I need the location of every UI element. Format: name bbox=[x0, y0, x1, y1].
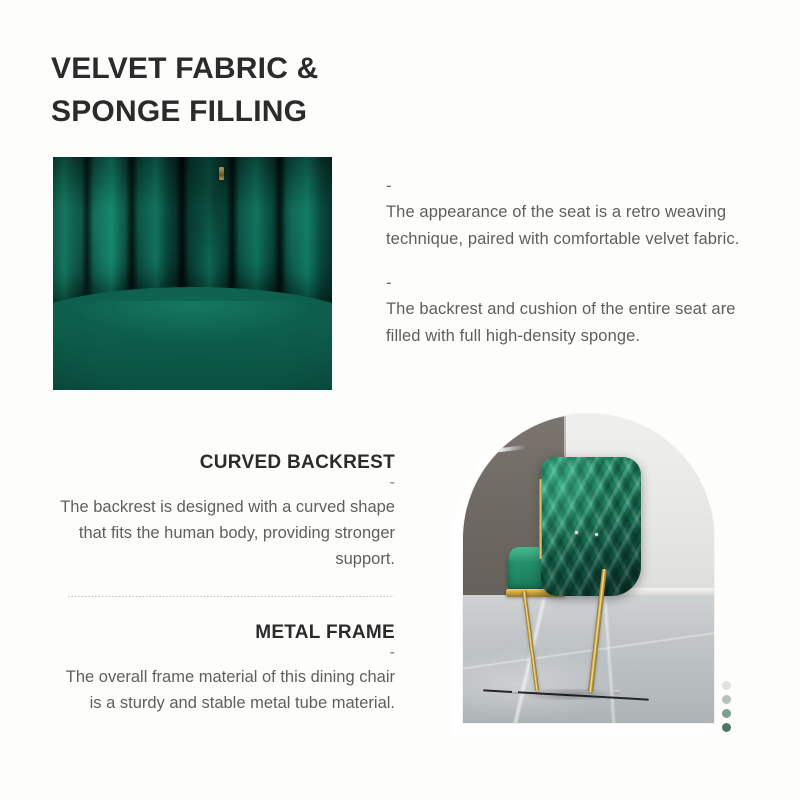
backrest-stud-icon bbox=[575, 531, 578, 534]
bullet-item: - The backrest and cushion of the entire… bbox=[386, 275, 764, 350]
feature-marker: - bbox=[50, 646, 395, 660]
gradient-dot bbox=[722, 709, 731, 718]
feature-marker: - bbox=[50, 476, 395, 490]
chair-floor-shadow bbox=[506, 689, 632, 700]
feature-metal-frame: METAL FRAME - The overall frame material… bbox=[50, 622, 395, 716]
feature-curved-backrest: CURVED BACKREST - The backrest is design… bbox=[50, 452, 395, 572]
feature-title: METAL FRAME bbox=[50, 622, 395, 644]
product-feature-page: VELVET FABRIC & SPONGE FILLING - The app… bbox=[0, 0, 800, 800]
bullet-item: - The appearance of the seat is a retro … bbox=[386, 178, 764, 253]
section-divider bbox=[68, 596, 394, 597]
bullet-marker: - bbox=[386, 178, 764, 193]
feature-text: The overall frame material of this dinin… bbox=[50, 664, 395, 716]
bullet-text: The backrest and cushion of the entire s… bbox=[386, 296, 764, 349]
chair-photo bbox=[463, 414, 714, 723]
floor-tile-lines bbox=[463, 595, 714, 723]
backrest-stud-icon bbox=[595, 533, 598, 536]
chair-woven-backrest bbox=[541, 457, 641, 596]
feature-text: The backrest is designed with a curved s… bbox=[50, 494, 395, 572]
chair-foot-cap bbox=[614, 690, 620, 694]
bullet-text: The appearance of the seat is a retro we… bbox=[386, 199, 764, 252]
feature-bullet-list: - The appearance of the seat is a retro … bbox=[386, 178, 764, 349]
gradient-dot bbox=[722, 695, 731, 704]
color-gradient-dots bbox=[722, 681, 731, 732]
velvet-vignette bbox=[53, 157, 332, 390]
gradient-dot bbox=[722, 723, 731, 732]
page-title: VELVET FABRIC & SPONGE FILLING bbox=[51, 48, 471, 133]
bullet-marker: - bbox=[386, 275, 764, 290]
chair-foot-cap bbox=[512, 690, 518, 694]
feature-title: CURVED BACKREST bbox=[50, 452, 395, 474]
chair-gold-post bbox=[539, 479, 542, 559]
gradient-dot bbox=[722, 681, 731, 690]
velvet-fabric-photo bbox=[53, 157, 332, 390]
backrest-shading bbox=[541, 457, 641, 596]
